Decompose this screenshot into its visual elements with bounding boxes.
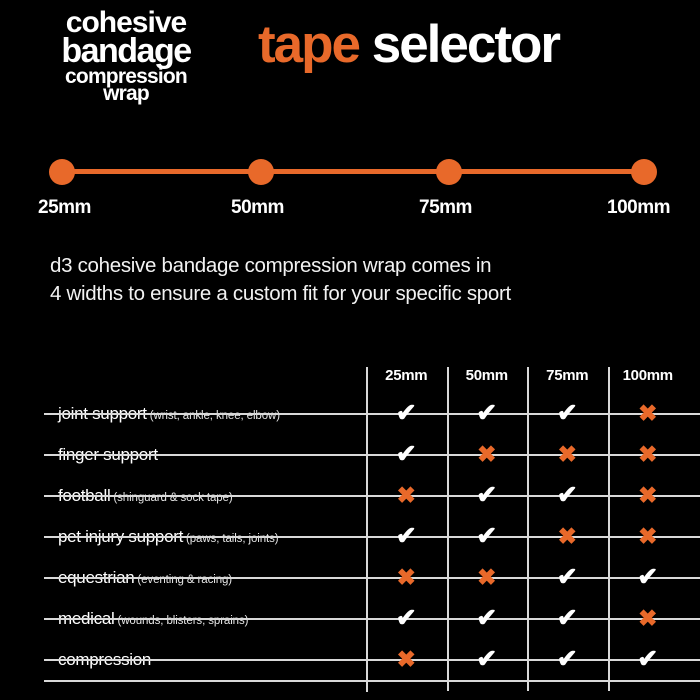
cell-75mm: ✖	[527, 443, 608, 467]
check-icon: ✔	[396, 401, 417, 426]
table-row: compression✖✔✔✔	[44, 639, 700, 680]
cell-100mm: ✖	[608, 484, 689, 508]
check-icon: ✔	[396, 524, 417, 549]
table-row: equestrian(eventing & racing)✖✖✔✔	[44, 557, 700, 598]
page-title: tape selector	[258, 18, 559, 71]
slider-dot-25mm[interactable]	[49, 159, 75, 185]
cell-75mm: ✔	[527, 565, 608, 590]
table-header-row: 25mm 50mm 75mm 100mm	[44, 358, 700, 393]
check-icon: ✔	[637, 565, 658, 590]
cell-50mm: ✔	[447, 483, 528, 508]
description-line-2: 4 widths to ensure a custom fit for your…	[50, 280, 670, 308]
page-title-main: selector	[372, 15, 559, 74]
slider-track	[62, 169, 644, 174]
check-icon: ✔	[637, 647, 658, 672]
table-bottom-divider	[44, 680, 700, 682]
table-row: finger support✔✖✖✖	[44, 434, 700, 475]
cell-50mm: ✔	[447, 524, 528, 549]
row-label-sub: (wrist, ankle, knee, elbow)	[150, 410, 280, 422]
cell-25mm: ✔	[366, 442, 447, 467]
cross-icon: ✖	[638, 402, 657, 425]
check-icon: ✔	[396, 442, 417, 467]
cross-icon: ✖	[397, 648, 416, 671]
cell-100mm: ✖	[608, 525, 689, 549]
cell-50mm: ✖	[447, 443, 528, 467]
column-header-label: 100mm	[623, 367, 673, 384]
slider-label-25mm: 25mm	[38, 197, 91, 219]
column-header-50mm: 50mm	[447, 367, 528, 384]
cross-icon: ✖	[397, 484, 416, 507]
cell-25mm: ✔	[366, 401, 447, 426]
cross-icon: ✖	[638, 484, 657, 507]
row-label-sub: (shinguard & sock tape)	[113, 492, 232, 504]
column-header-label: 75mm	[546, 367, 588, 384]
cell-75mm: ✖	[527, 525, 608, 549]
cell-25mm: ✔	[366, 524, 447, 549]
column-header-100mm: 100mm	[608, 367, 689, 384]
table-row: medical(wounds, blisters, sprains)✔✔✔✖	[44, 598, 700, 639]
column-divider	[527, 644, 529, 691]
description-line-1: d3 cohesive bandage compression wrap com…	[50, 252, 670, 280]
cross-icon: ✖	[638, 607, 657, 630]
table-row: pet injury support(paws, tails, joints)✔…	[44, 516, 700, 557]
cell-75mm: ✔	[527, 606, 608, 631]
check-icon: ✔	[396, 606, 417, 631]
cross-icon: ✖	[638, 525, 657, 548]
cell-75mm: ✔	[527, 647, 608, 672]
row-label-sub: (wounds, blisters, sprains)	[117, 615, 248, 627]
description-text: d3 cohesive bandage compression wrap com…	[50, 252, 670, 309]
table-row: joint support(wrist, ankle, knee, elbow)…	[44, 393, 700, 434]
check-icon: ✔	[557, 401, 578, 426]
cell-100mm: ✖	[608, 607, 689, 631]
cross-icon: ✖	[477, 443, 496, 466]
cell-25mm: ✖	[366, 566, 447, 590]
check-icon: ✔	[476, 483, 497, 508]
column-header-75mm: 75mm	[527, 367, 608, 384]
check-icon: ✔	[476, 401, 497, 426]
header: cohesive bandage compression wrap tape s…	[0, 0, 700, 120]
slider-dot-50mm[interactable]	[248, 159, 274, 185]
row-divider	[44, 680, 700, 682]
cell-25mm: ✖	[366, 484, 447, 508]
cell-25mm: ✔	[366, 606, 447, 631]
cross-icon: ✖	[558, 443, 577, 466]
brand-line-4: wrap	[16, 83, 236, 104]
row-label-sub: (eventing & racing)	[137, 574, 232, 586]
cell-50mm: ✖	[447, 566, 528, 590]
slider-dot-75mm[interactable]	[436, 159, 462, 185]
brand-logo: cohesive bandage compression wrap	[16, 8, 236, 104]
cross-icon: ✖	[397, 566, 416, 589]
brand-line-2: bandage	[16, 34, 236, 68]
check-icon: ✔	[476, 524, 497, 549]
cell-50mm: ✔	[447, 647, 528, 672]
column-divider	[366, 645, 368, 692]
column-divider	[447, 644, 449, 691]
check-icon: ✔	[557, 647, 578, 672]
slider-label-100mm: 100mm	[607, 197, 670, 219]
column-divider	[608, 644, 610, 691]
tape-selector-infographic: cohesive bandage compression wrap tape s…	[0, 0, 700, 700]
cell-100mm: ✖	[608, 402, 689, 426]
check-icon: ✔	[557, 565, 578, 590]
slider-label-50mm: 50mm	[231, 197, 284, 219]
check-icon: ✔	[557, 483, 578, 508]
column-header-label: 25mm	[385, 367, 427, 384]
compatibility-table: 25mm 50mm 75mm 100mm joint support(wrist…	[44, 358, 700, 682]
cell-50mm: ✔	[447, 606, 528, 631]
cross-icon: ✖	[638, 443, 657, 466]
cell-100mm: ✔	[608, 647, 689, 672]
cross-icon: ✖	[558, 525, 577, 548]
table-row: football(shinguard & sock tape)✖✔✔✖	[44, 475, 700, 516]
page-title-accent: tape	[258, 15, 359, 74]
slider-label-75mm: 75mm	[419, 197, 472, 219]
cell-75mm: ✔	[527, 483, 608, 508]
cell-100mm: ✔	[608, 565, 689, 590]
column-header-label: 50mm	[466, 367, 508, 384]
cell-50mm: ✔	[447, 401, 528, 426]
check-icon: ✔	[476, 647, 497, 672]
cell-25mm: ✖	[366, 648, 447, 672]
width-slider[interactable]: 25mm 50mm 75mm 100mm	[0, 140, 700, 230]
row-label-sub: (paws, tails, joints)	[186, 533, 278, 545]
cell-100mm: ✖	[608, 443, 689, 467]
table-body: joint support(wrist, ankle, knee, elbow)…	[44, 393, 700, 682]
check-icon: ✔	[476, 606, 497, 631]
cross-icon: ✖	[477, 566, 496, 589]
check-icon: ✔	[557, 606, 578, 631]
column-header-25mm: 25mm	[366, 367, 447, 384]
slider-dot-100mm[interactable]	[631, 159, 657, 185]
cell-75mm: ✔	[527, 401, 608, 426]
